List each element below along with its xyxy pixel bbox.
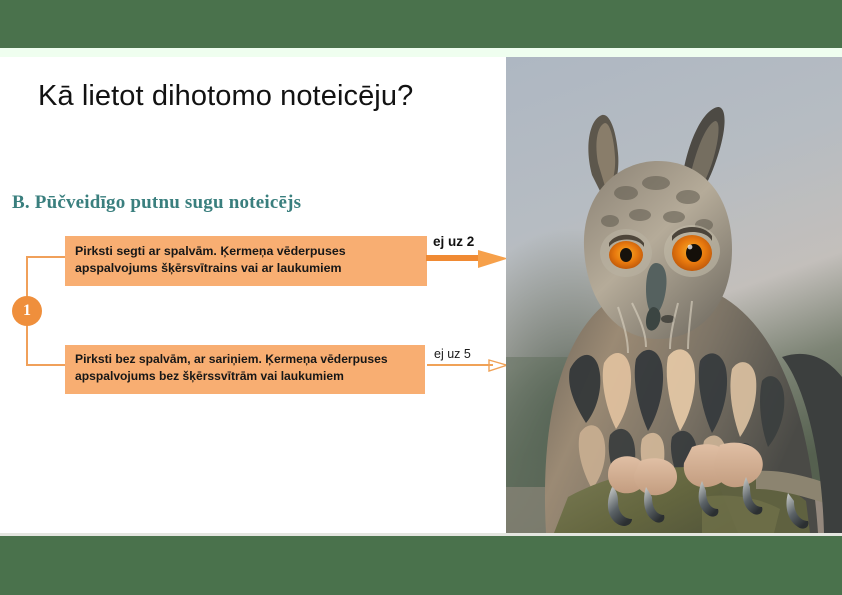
top-green-band bbox=[0, 0, 842, 48]
key-statement-1-line-2: apspalvojums šķērsvītrains vai ar laukum… bbox=[75, 260, 418, 277]
key-bracket-top-arm bbox=[26, 256, 68, 258]
goto-label-1: ej uz 2 bbox=[433, 234, 474, 249]
arrow-right-icon-1 bbox=[426, 249, 508, 271]
key-statement-2-line-2: apspalvojums bez šķērssvītrām vai laukum… bbox=[75, 368, 416, 385]
key-statement-box-2: Pirksti bez spalvām, ar sariņiem. Ķermeņ… bbox=[65, 345, 425, 394]
key-statement-box-1: Pirksti segti ar spalvām. Ķermeņa vēderp… bbox=[65, 236, 427, 286]
arrow-right-icon-2 bbox=[427, 358, 507, 374]
slide: Kā lietot dihotomo noteicēju? B. Pūčveid… bbox=[0, 0, 842, 595]
key-statement-2-line-1: Pirksti bez spalvām, ar sariņiem. Ķermeņ… bbox=[75, 351, 416, 368]
top-band-glow bbox=[0, 48, 842, 57]
page-title: Kā lietot dihotomo noteicēju? bbox=[38, 78, 508, 114]
owl-photo-illustration bbox=[506, 57, 842, 533]
key-node-number: 1 bbox=[12, 296, 42, 326]
owl-photo bbox=[506, 57, 842, 533]
key-bracket-bottom-arm bbox=[26, 364, 68, 366]
key-statement-1-line-1: Pirksti segti ar spalvām. Ķermeņa vēderp… bbox=[75, 243, 418, 260]
bottom-green-band bbox=[0, 536, 842, 595]
section-subtitle: B. Pūčveidīgo putnu sugu noteicējs bbox=[12, 192, 301, 214]
